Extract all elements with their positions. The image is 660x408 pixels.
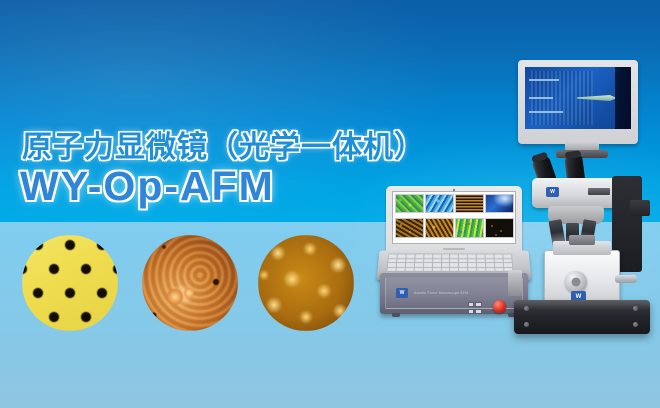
keyboard-key: [494, 254, 502, 257]
keyboard-key: [486, 267, 494, 270]
scan-thumbnail-caption: [455, 213, 484, 217]
keyboard-key: [432, 267, 440, 270]
scan-thumbnail-image: [455, 218, 484, 238]
filter-slider: [588, 188, 610, 195]
controller-port: [468, 309, 474, 314]
scan-thumbnail: [455, 218, 484, 242]
controller-front-panel: W Atomic Force Microscope AFM: [385, 277, 523, 309]
scan-thumbnail-image: [425, 194, 454, 214]
afm-sample-image-gold-grain: [258, 235, 354, 331]
keyboard-key: [450, 267, 458, 270]
base-highlight: [514, 300, 650, 310]
scan-line: [529, 111, 563, 113]
afm-controller-box: W Atomic Force Microscope AFM: [380, 272, 528, 314]
keyboard-key: [486, 263, 494, 266]
monitor-bezel-chin: [525, 132, 631, 140]
keyboard-key: [389, 254, 397, 257]
base-screw: [524, 322, 529, 327]
keyboard-key: [459, 254, 467, 257]
controller-port-cluster: [468, 302, 482, 314]
scan-thumbnail: [425, 218, 454, 242]
scan-thumbnail-caption: [425, 213, 454, 217]
scanner-translation-rod: [615, 275, 637, 283]
keyboard-key: [406, 254, 414, 257]
microscope-head-body: W: [532, 178, 618, 208]
controller-port: [475, 302, 481, 307]
keyboard-key: [406, 263, 414, 266]
keyboard-key: [477, 267, 485, 270]
brand-logo-icon: W: [396, 288, 408, 298]
keyboard-key: [450, 259, 458, 262]
keyboard-key: [423, 267, 431, 270]
base-screw: [633, 322, 638, 327]
keyboard-key: [415, 259, 423, 262]
keyboard-key: [414, 267, 422, 270]
keyboard-key: [459, 263, 467, 266]
keyboard-key: [468, 254, 476, 257]
dot-array-texture: [22, 235, 118, 331]
keyboard-key: [433, 254, 441, 257]
scan-thumbnail-caption: [395, 238, 424, 242]
scan-thumbnail: [425, 194, 454, 218]
keyboard-key: [477, 259, 485, 262]
scan-line: [529, 97, 553, 99]
keyboard-key: [397, 263, 405, 266]
focus-knob-housing: [630, 200, 650, 216]
keyboard-key: [406, 259, 414, 262]
keyboard-key: [477, 254, 485, 257]
keyboard-key: [388, 259, 396, 262]
keyboard-key: [405, 267, 413, 270]
eyepiece-cap: [565, 150, 582, 159]
keyboard-key: [424, 259, 432, 262]
laptop-screen: [392, 191, 516, 244]
scan-thumbnail: [395, 194, 424, 218]
scan-thumbnail-image: [455, 194, 484, 214]
screen-dark-edge: [615, 67, 631, 129]
keyboard-key: [442, 263, 450, 266]
scanner-head-block: [569, 235, 595, 245]
scanner-adjust-knob: [565, 271, 587, 293]
keyboard-key: [468, 263, 476, 266]
keyboard-key: [486, 259, 494, 262]
orange-topography-texture: [142, 235, 238, 331]
product-banner: 原子力显微镜（光学一体机） WY-Op-AFM: [0, 0, 660, 408]
laptop-keyboard: [386, 253, 513, 271]
keyboard-key: [396, 267, 404, 270]
controller-port: [468, 302, 474, 307]
laptop-lid: [386, 186, 522, 254]
keyboard-key: [441, 267, 449, 270]
base-screw: [633, 306, 638, 311]
scan-thumbnail-image: [425, 218, 454, 238]
keyboard-key: [486, 254, 494, 257]
keyboard-key: [415, 254, 423, 257]
keyboard-row: [388, 263, 512, 266]
keyboard-row: [388, 259, 512, 262]
keyboard-key: [442, 254, 450, 257]
scan-thumbnail: [395, 218, 424, 242]
eyepiece-cap: [531, 151, 548, 163]
controller-port: [475, 309, 481, 314]
scan-thumbnail-caption: [455, 238, 484, 242]
keyboard-key: [459, 259, 467, 262]
keyboard-key: [387, 267, 395, 270]
keyboard-key: [397, 254, 405, 257]
gold-grain-texture: [258, 235, 354, 331]
page-title: 原子力显微镜（光学一体机）: [22, 122, 425, 166]
keyboard-key: [468, 259, 476, 262]
afm-sample-image-orange-topography: [142, 235, 238, 331]
afm-optical-microscope: W W: [508, 60, 656, 340]
keyboard-key: [424, 263, 432, 266]
keyboard-key: [450, 254, 458, 257]
scan-thumbnail-caption: [395, 213, 424, 217]
controller-foot: [392, 313, 400, 317]
keyboard-row: [387, 267, 512, 270]
scan-thumbnail-image: [395, 194, 424, 214]
keyboard-key: [495, 259, 503, 262]
anti-vibration-base: [514, 300, 650, 334]
product-model-title: WY-Op-AFM: [20, 163, 275, 210]
keyboard-key: [433, 259, 441, 262]
sample-holder-stub: [508, 270, 522, 296]
keyboard-key: [459, 267, 467, 270]
keyboard-key: [424, 254, 432, 257]
scan-line: [529, 79, 559, 81]
keyboard-key: [415, 263, 423, 266]
base-screw: [524, 306, 529, 311]
keyboard-key: [397, 259, 405, 262]
keyboard-key: [468, 267, 476, 270]
keyboard-key: [495, 267, 503, 270]
keyboard-key: [477, 263, 485, 266]
keyboard-key: [442, 259, 450, 262]
monitor-screen: [525, 67, 631, 129]
emergency-power-knob: [493, 300, 506, 313]
keyboard-key: [495, 263, 503, 266]
keyboard-key: [388, 263, 396, 266]
brand-logo-icon: W: [546, 187, 559, 197]
controller-label: Atomic Force Microscope AFM: [414, 291, 468, 295]
scan-thumbnail: [455, 194, 484, 218]
keyboard-key: [433, 263, 441, 266]
microscope-monitor: [518, 60, 638, 144]
afm-sample-image-dot-array: [22, 235, 118, 331]
keyboard-row: [389, 254, 512, 257]
keyboard-key: [450, 263, 458, 266]
scan-thumbnail-image: [395, 218, 424, 238]
scan-thumbnail-caption: [425, 238, 454, 242]
